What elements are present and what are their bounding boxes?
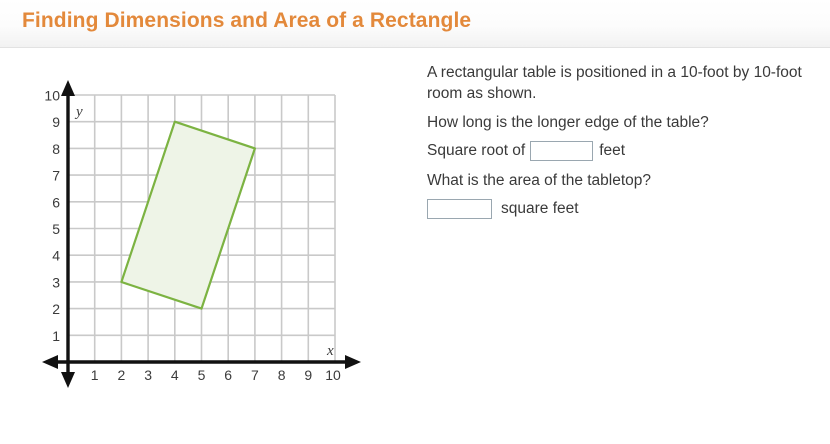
y-axis-arrow-down [61, 372, 75, 388]
y-tick-5: 5 [52, 221, 60, 237]
y-tick-2: 2 [52, 301, 60, 317]
answer-1-unit-label: feet [599, 140, 625, 161]
question-2-text: What is the area of the tabletop? [427, 170, 827, 191]
x-tick-1: 1 [91, 367, 99, 383]
answer-1-input[interactable] [530, 141, 593, 161]
page-title: Finding Dimensions and Area of a Rectang… [22, 9, 471, 33]
x-tick-10: 10 [325, 367, 341, 383]
y-axis-tick-labels: 10 9 8 7 6 5 4 3 2 1 [44, 88, 60, 344]
x-tick-7: 7 [251, 367, 259, 383]
y-tick-8: 8 [52, 141, 60, 157]
answer-2-input[interactable] [427, 199, 492, 219]
x-tick-6: 6 [224, 367, 232, 383]
problem-statement: A rectangular table is positioned in a 1… [427, 62, 827, 104]
x-tick-8: 8 [278, 367, 286, 383]
x-axis-arrow-right [345, 355, 361, 369]
question-panel: A rectangular table is positioned in a 1… [427, 62, 827, 228]
y-axis-label: y [74, 104, 83, 120]
x-axis-tick-labels: 1 2 3 4 5 6 7 8 9 10 [91, 367, 341, 383]
answer-row-1: Square root of feet [427, 140, 827, 161]
question-1-text: How long is the longer edge of the table… [427, 112, 827, 133]
graph-svg: 10 9 8 7 6 5 4 3 2 1 1 2 3 4 5 6 7 8 [0, 58, 400, 388]
x-tick-9: 9 [304, 367, 312, 383]
page-root: Finding Dimensions and Area of a Rectang… [0, 0, 830, 444]
y-tick-1: 1 [52, 328, 60, 344]
x-tick-3: 3 [144, 367, 152, 383]
answer-2-unit-label: square feet [501, 198, 579, 219]
x-tick-2: 2 [118, 367, 126, 383]
tabletop-rectangle [121, 122, 255, 309]
x-axis-arrow-left [42, 355, 58, 369]
x-tick-4: 4 [171, 367, 179, 383]
y-tick-7: 7 [52, 168, 60, 184]
y-tick-3: 3 [52, 274, 60, 290]
answer-1-prefix-label: Square root of [427, 140, 525, 161]
y-tick-4: 4 [52, 248, 60, 264]
x-tick-5: 5 [198, 367, 206, 383]
y-tick-9: 9 [52, 114, 60, 130]
page-header: Finding Dimensions and Area of a Rectang… [0, 0, 830, 48]
y-tick-6: 6 [52, 194, 60, 210]
y-axis-arrow-up [61, 80, 75, 96]
y-tick-10: 10 [44, 88, 60, 104]
coordinate-graph: 10 9 8 7 6 5 4 3 2 1 1 2 3 4 5 6 7 8 [0, 58, 400, 388]
answer-row-2: square feet [427, 198, 827, 219]
x-axis-label: x [326, 343, 334, 359]
